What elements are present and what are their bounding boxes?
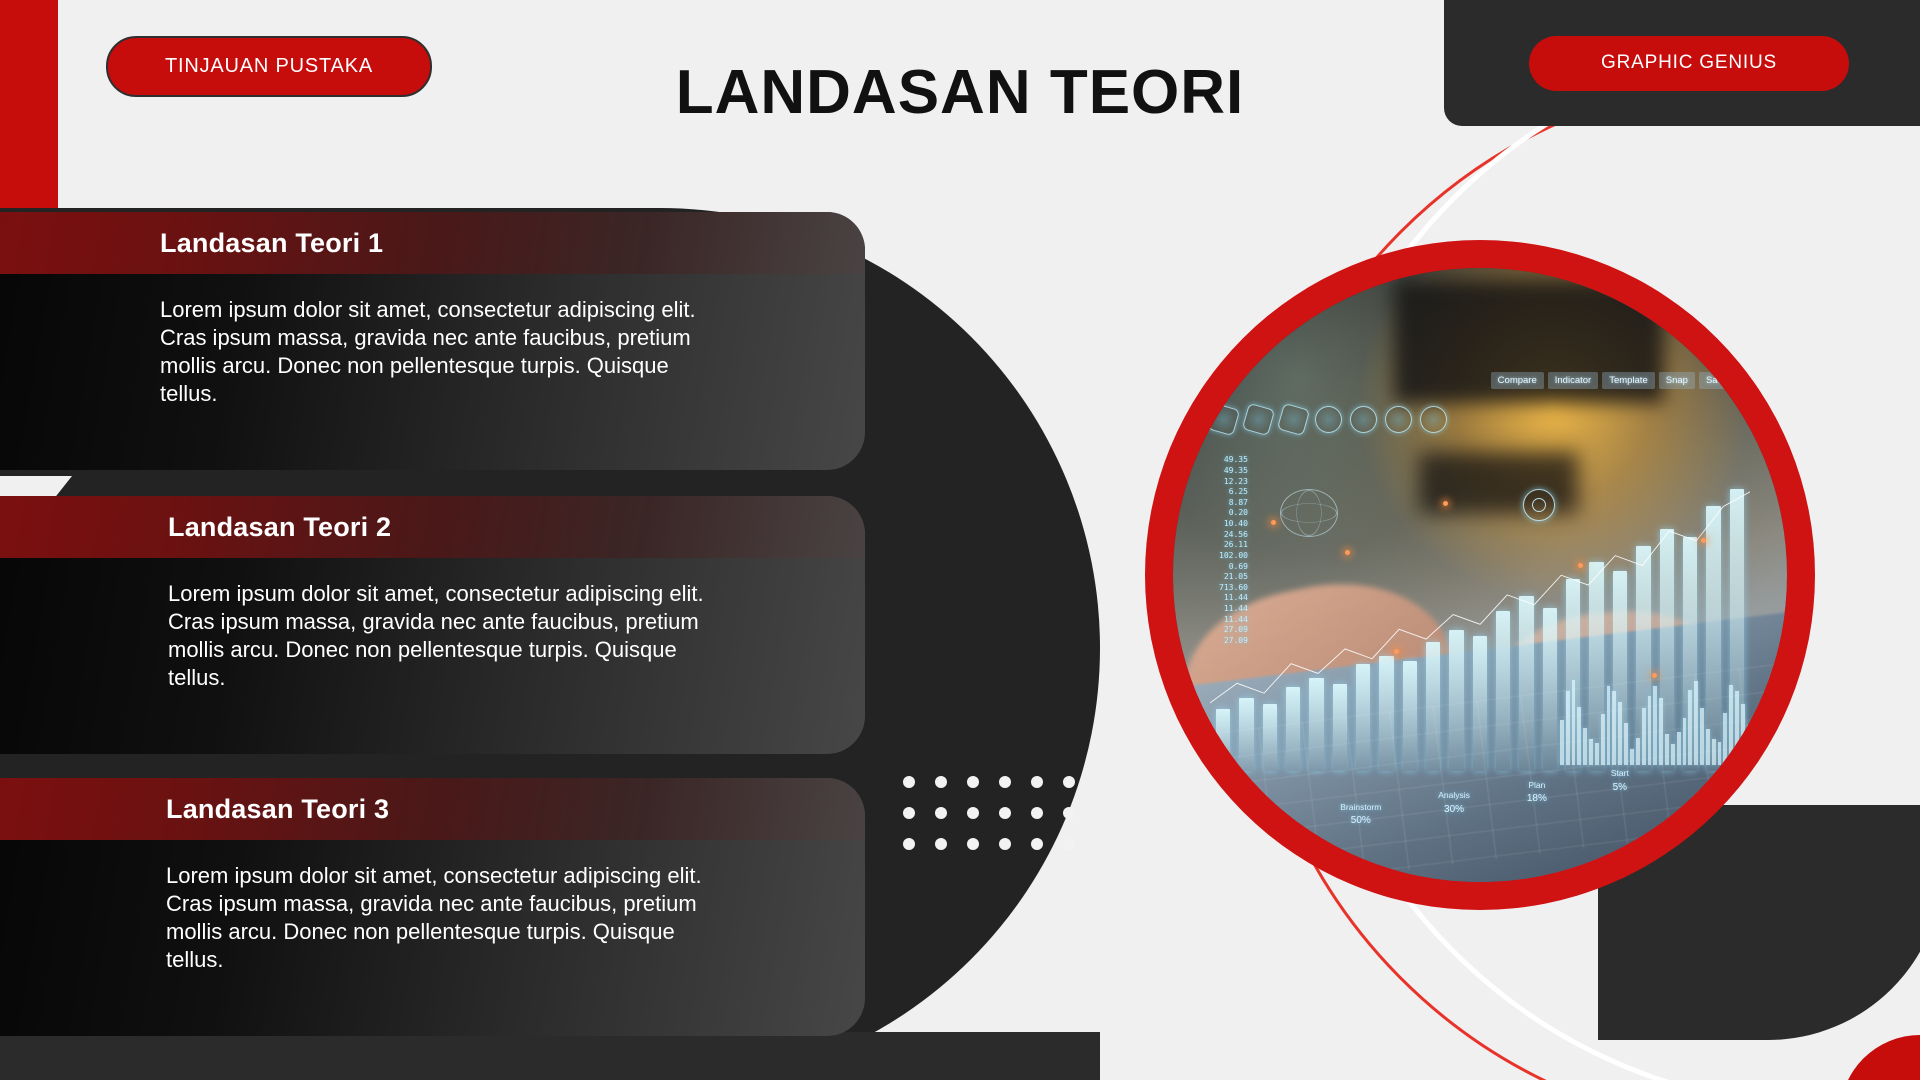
hologram-number: 11.44 <box>1219 604 1248 615</box>
hologram-step-percent: 5% <box>1611 780 1629 795</box>
hologram-number: 26.11 <box>1219 540 1248 551</box>
hologram-number: 8.87 <box>1219 498 1248 509</box>
hologram-mini-bar <box>1583 728 1587 765</box>
card-3-title-band: Landasan Teori 3 <box>0 778 865 840</box>
hologram-number: 0.69 <box>1219 562 1248 573</box>
hologram-mini-bar <box>1665 734 1669 765</box>
glow-dot <box>1578 563 1583 568</box>
content-card-3[interactable]: Landasan Teori 3 Lorem ipsum dolor sit a… <box>0 778 865 1036</box>
card-2-title-band: Landasan Teori 2 <box>0 496 865 558</box>
grid-dot <box>903 776 915 788</box>
card-1-text: Lorem ipsum dolor sit amet, consectetur … <box>160 296 720 409</box>
hologram-step-label: Brainstorm <box>1340 801 1381 814</box>
hologram-toolbar-snap: Snap <box>1659 372 1695 389</box>
hologram-overlay: 49.3549.3512.236.258.870.2010.4024.5626.… <box>1173 268 1787 882</box>
hologram-number: 0.20 <box>1219 508 1248 519</box>
dial-icon <box>1385 406 1412 433</box>
hologram-mini-bar <box>1624 723 1628 765</box>
grid-dot <box>935 807 947 819</box>
hologram-toolbar-square-icon <box>1739 374 1752 387</box>
hologram-step-percent: 85% <box>1242 824 1262 839</box>
dot-grid-decoration <box>903 776 1095 869</box>
grid-dot <box>935 838 947 850</box>
hologram-mini-bar <box>1671 744 1675 765</box>
grid-dot <box>967 838 979 850</box>
hologram-icon-row <box>1210 406 1447 433</box>
content-card-2[interactable]: Landasan Teori 2 Lorem ipsum dolor sit a… <box>0 496 865 754</box>
grid-dot <box>1031 838 1043 850</box>
polygon-icon <box>1277 403 1310 436</box>
circular-photo: 49.3549.3512.236.258.870.2010.4024.5626.… <box>1173 268 1787 882</box>
card-3-title: Landasan Teori 3 <box>166 794 389 825</box>
hologram-number: 49.35 <box>1219 466 1248 477</box>
ring-icon <box>1350 406 1377 433</box>
hologram-mini-bar <box>1683 718 1687 765</box>
hologram-step-percent: 18% <box>1527 791 1547 806</box>
hologram-toolbar-save: Save <box>1699 372 1735 389</box>
hologram-number: 27.09 <box>1219 625 1248 636</box>
hologram-number-column: 49.3549.3512.236.258.870.2010.4024.5626.… <box>1219 455 1248 646</box>
hologram-number: 24.56 <box>1219 530 1248 541</box>
card-1-title: Landasan Teori 1 <box>160 228 383 259</box>
card-2-body: Lorem ipsum dolor sit amet, consectetur … <box>0 558 865 693</box>
hologram-toolbar-indicator: Indicator <box>1548 372 1598 389</box>
brand-pill[interactable]: GRAPHIC GENIUS <box>1529 36 1849 91</box>
grid-dot <box>1063 807 1075 819</box>
target-icon <box>1523 489 1555 521</box>
hologram-toolbar: CompareIndicatorTemplateSnapSave <box>1491 372 1769 389</box>
hologram-mini-bar <box>1595 743 1599 765</box>
hologram-step-plan: Plan18% <box>1527 779 1547 807</box>
hologram-mini-bar <box>1753 750 1757 766</box>
brand-panel: GRAPHIC GENIUS <box>1444 0 1920 126</box>
hologram-step-idea: Idea85% <box>1242 811 1262 839</box>
hologram-mini-bar <box>1718 742 1722 765</box>
glow-dot <box>1271 520 1276 525</box>
hologram-step-percent: 30% <box>1438 802 1470 817</box>
hologram-number: 27.09 <box>1219 636 1248 647</box>
hologram-toolbar-square-icon <box>1756 374 1769 387</box>
gauge-icon <box>1420 406 1447 433</box>
bottom-dark-strip <box>0 1032 1100 1080</box>
card-2-text: Lorem ipsum dolor sit amet, consectetur … <box>168 580 728 693</box>
card-3-body: Lorem ipsum dolor sit amet, consectetur … <box>0 840 865 975</box>
hologram-toolbar-compare: Compare <box>1491 372 1544 389</box>
hologram-mini-bar <box>1636 738 1640 766</box>
hologram-mini-bar <box>1712 739 1716 765</box>
hologram-step-label: Plan <box>1527 779 1547 792</box>
hologram-mini-bar <box>1677 732 1681 765</box>
grid-dot <box>1063 838 1075 850</box>
card-3-text: Lorem ipsum dolor sit amet, consectetur … <box>166 862 726 975</box>
hologram-number: 6.25 <box>1219 487 1248 498</box>
slide-canvas: TINJAUAN PUSTAKA LANDASAN TEORI GRAPHIC … <box>0 0 1920 1080</box>
hologram-mini-bar <box>1630 749 1634 765</box>
grid-dot <box>903 838 915 850</box>
hologram-number: 10.40 <box>1219 519 1248 530</box>
hologram-toolbar-template: Template <box>1602 372 1655 389</box>
hologram-number: 11.44 <box>1219 615 1248 626</box>
section-pill[interactable]: TINJAUAN PUSTAKA <box>106 36 432 97</box>
grid-dot <box>903 807 915 819</box>
hologram-number: 12.23 <box>1219 477 1248 488</box>
hologram-step-brainstorm: Brainstorm50% <box>1340 801 1381 829</box>
hologram-number: 21.05 <box>1219 572 1248 583</box>
hologram-process-steps: Idea85%Brainstorm50%Analysis30%Plan18%St… <box>1228 765 1695 839</box>
pie-chart-icon <box>1315 406 1342 433</box>
left-red-accent-bar <box>0 0 58 208</box>
card-1-body: Lorem ipsum dolor sit amet, consectetur … <box>0 274 865 409</box>
hologram-mini-bar <box>1706 729 1710 765</box>
hologram-mini-bar <box>1747 725 1751 766</box>
hologram-number: 102.00 <box>1219 551 1248 562</box>
hologram-mini-bar <box>1560 720 1564 766</box>
pentagon-icon <box>1242 403 1275 436</box>
hologram-step-label: Start <box>1611 767 1629 780</box>
hologram-mini-bar <box>1589 739 1593 765</box>
grid-dot <box>967 776 979 788</box>
grid-dot <box>999 776 1011 788</box>
hologram-number: 713.60 <box>1219 583 1248 594</box>
section-pill-label: TINJAUAN PUSTAKA <box>165 55 373 78</box>
grid-dot <box>1031 776 1043 788</box>
grid-dot <box>1063 776 1075 788</box>
hologram-step-analysis: Analysis30% <box>1438 789 1470 817</box>
card-1-title-band: Landasan Teori 1 <box>0 212 865 274</box>
grid-dot <box>1031 807 1043 819</box>
hologram-number: 49.35 <box>1219 455 1248 466</box>
grid-dot <box>999 838 1011 850</box>
circular-photo-ring: 49.3549.3512.236.258.870.2010.4024.5626.… <box>1145 240 1815 910</box>
hologram-step-label: Idea <box>1242 811 1262 824</box>
hologram-step-percent: 50% <box>1340 813 1381 828</box>
hexagon-icon <box>1207 403 1240 436</box>
grid-dot <box>935 776 947 788</box>
grid-dot <box>999 807 1011 819</box>
hologram-step-start: Start5% <box>1611 767 1629 795</box>
grid-dot <box>967 807 979 819</box>
hologram-step-label: Analysis <box>1438 789 1470 802</box>
brand-label: GRAPHIC GENIUS <box>1601 52 1777 74</box>
card-2-title: Landasan Teori 2 <box>168 512 391 543</box>
hologram-number: 11.44 <box>1219 593 1248 604</box>
content-card-1[interactable]: Landasan Teori 1 Lorem ipsum dolor sit a… <box>0 212 865 470</box>
glow-dot <box>1394 649 1399 654</box>
